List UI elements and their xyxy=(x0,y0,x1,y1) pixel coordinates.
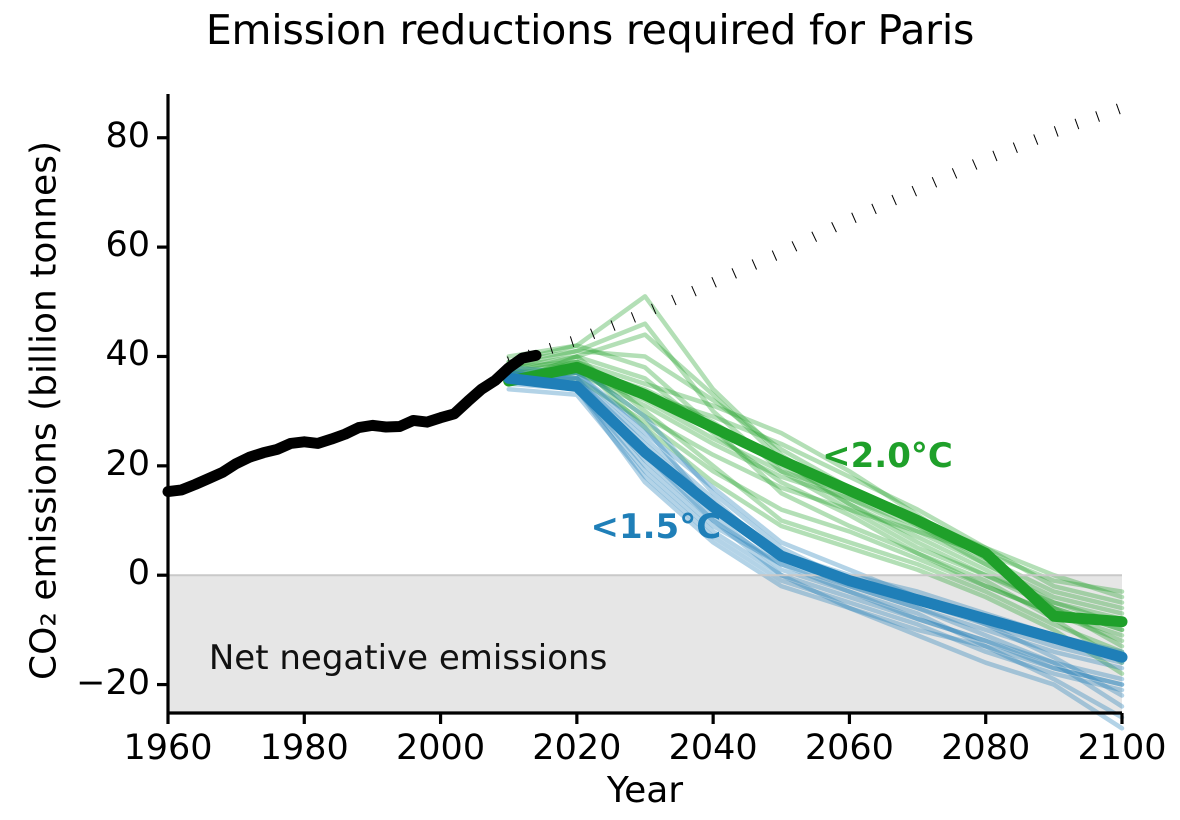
net-negative-emissions-label: Net negative emissions xyxy=(209,638,607,678)
historical-emissions-line xyxy=(168,355,536,491)
x-axis-label: Year xyxy=(168,770,1122,811)
chart-figure: Emission reductions required for Paris C… xyxy=(0,0,1180,820)
annotation-below-2c: <2.0°C xyxy=(822,436,953,476)
baseline-projection-line xyxy=(509,108,1122,362)
plot-canvas xyxy=(0,0,1180,820)
y-axis-label: CO₂ emissions (billion tonnes) xyxy=(24,91,65,731)
annotation-below-1p5c: <1.5°C xyxy=(590,507,721,547)
